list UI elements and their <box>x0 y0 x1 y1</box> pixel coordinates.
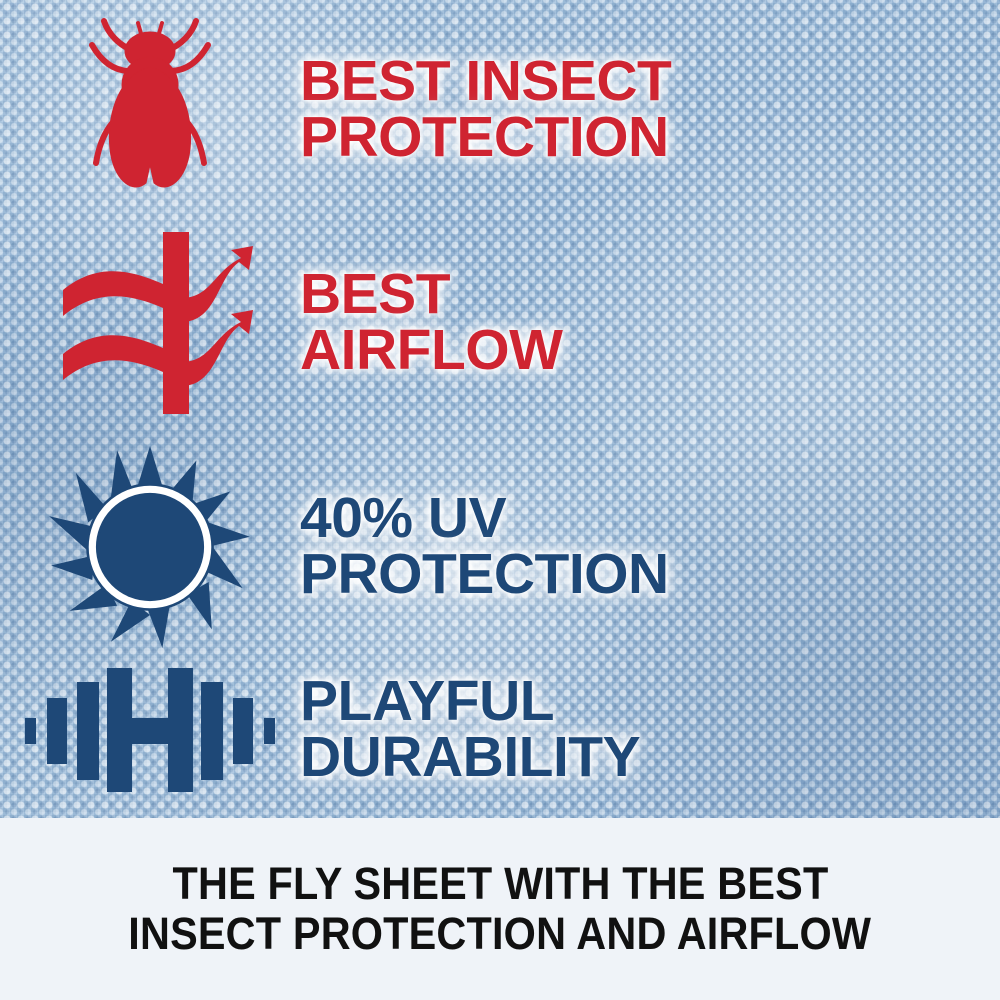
feature-row-uv-protection: 40% UV PROTECTION <box>0 442 1000 652</box>
uv-protection-text: 40% UV PROTECTION <box>300 491 669 603</box>
feature-line-2: AIRFLOW <box>300 323 562 379</box>
sun-icon-cell <box>0 444 300 650</box>
airflow-arrows-icon <box>45 228 255 418</box>
feature-line-1: BEST INSECT <box>300 54 671 110</box>
feature-row-airflow: BEST AIRFLOW <box>0 228 1000 418</box>
dumbbell-icon <box>15 660 285 800</box>
fly-icon-cell <box>0 15 300 205</box>
caption-line-1: THE FLY SHEET WITH THE BEST <box>172 859 828 909</box>
feature-row-insect-protection: BEST INSECT PROTECTION <box>0 10 1000 210</box>
fly-icon <box>70 15 230 205</box>
feature-line-2: PROTECTION <box>300 547 669 603</box>
feature-line-1: PLAYFUL <box>300 674 640 730</box>
feature-line-1: BEST <box>300 267 562 323</box>
feature-line-2: PROTECTION <box>300 110 671 166</box>
airflow-text: BEST AIRFLOW <box>300 267 562 379</box>
product-feature-poster: BEST INSECT PROTECTION <box>0 0 1000 1000</box>
dumbbell-icon-cell <box>0 660 300 800</box>
airflow-icon-cell <box>0 228 300 418</box>
feature-line-1: 40% UV <box>300 491 669 547</box>
insect-protection-text: BEST INSECT PROTECTION <box>300 54 671 166</box>
caption-band: THE FLY SHEET WITH THE BEST INSECT PROTE… <box>0 818 1000 1000</box>
durability-text: PLAYFUL DURABILITY <box>300 674 640 786</box>
sun-icon <box>45 444 255 650</box>
feature-row-durability: PLAYFUL DURABILITY <box>0 650 1000 810</box>
sun-inner-disc <box>99 496 202 599</box>
feature-line-2: DURABILITY <box>300 730 640 786</box>
caption-line-2: INSECT PROTECTION AND AIRFLOW <box>129 909 872 959</box>
